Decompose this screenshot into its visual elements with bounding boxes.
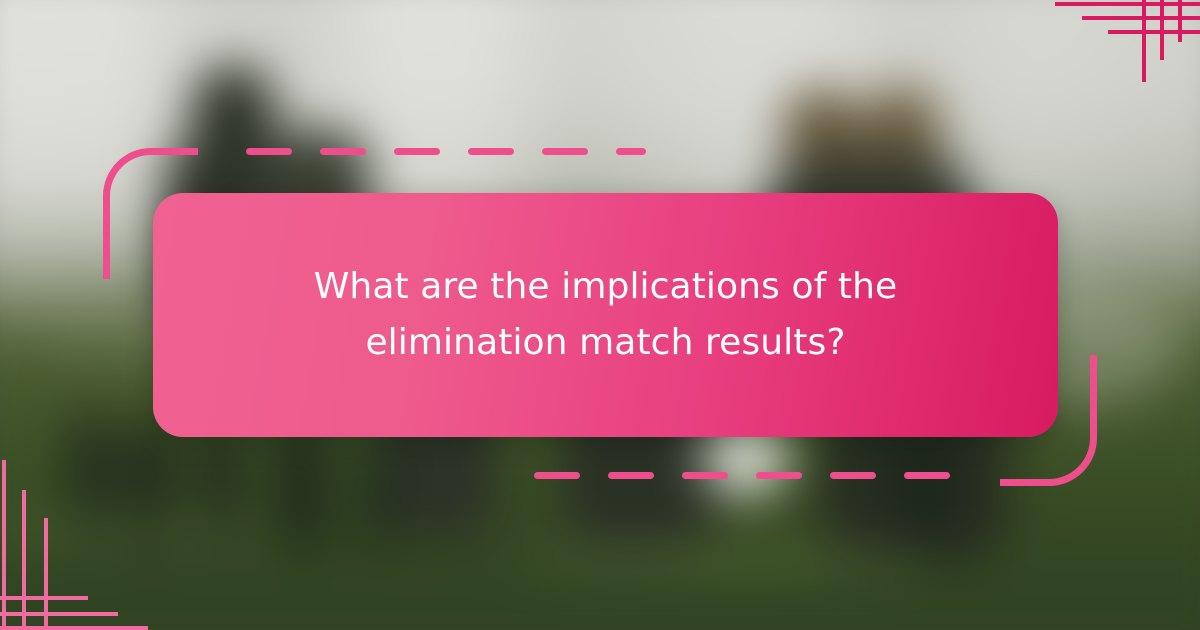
question-text: What are the implications of the elimina… — [226, 259, 986, 371]
bracket-vertical-line — [1142, 0, 1146, 82]
question-card: What are the implications of the elimina… — [153, 193, 1058, 437]
dash-segment — [542, 148, 588, 155]
dash-segment — [756, 472, 802, 479]
dash-segment — [534, 472, 580, 479]
dash-segment — [394, 148, 440, 155]
player-leg — [356, 430, 396, 548]
bracket-vertical-line — [22, 490, 26, 630]
bracket-vertical-line — [1160, 0, 1164, 60]
bracket-horizontal-line — [1082, 16, 1200, 20]
dash-segment — [468, 148, 514, 155]
bracket-horizontal-line — [0, 612, 118, 616]
dash-segment — [246, 148, 292, 155]
dash-segment — [616, 148, 646, 155]
grass-highlight — [520, 545, 940, 575]
dash-row-bottom — [534, 472, 950, 479]
player-leg — [278, 418, 324, 550]
dash-segment — [320, 148, 366, 155]
dash-segment — [830, 472, 876, 479]
social-card-canvas: What are the implications of the elimina… — [0, 0, 1200, 630]
bracket-vertical-line — [1178, 0, 1182, 42]
dash-segment — [608, 472, 654, 479]
dash-row-top — [246, 148, 646, 155]
bracket-horizontal-line — [1108, 30, 1200, 34]
bracket-horizontal-line — [0, 596, 88, 600]
player-leg — [900, 422, 948, 550]
bracket-vertical-line — [2, 460, 6, 630]
dash-segment — [682, 472, 728, 479]
bracket-horizontal-line — [0, 626, 148, 630]
dash-segment — [904, 472, 950, 479]
